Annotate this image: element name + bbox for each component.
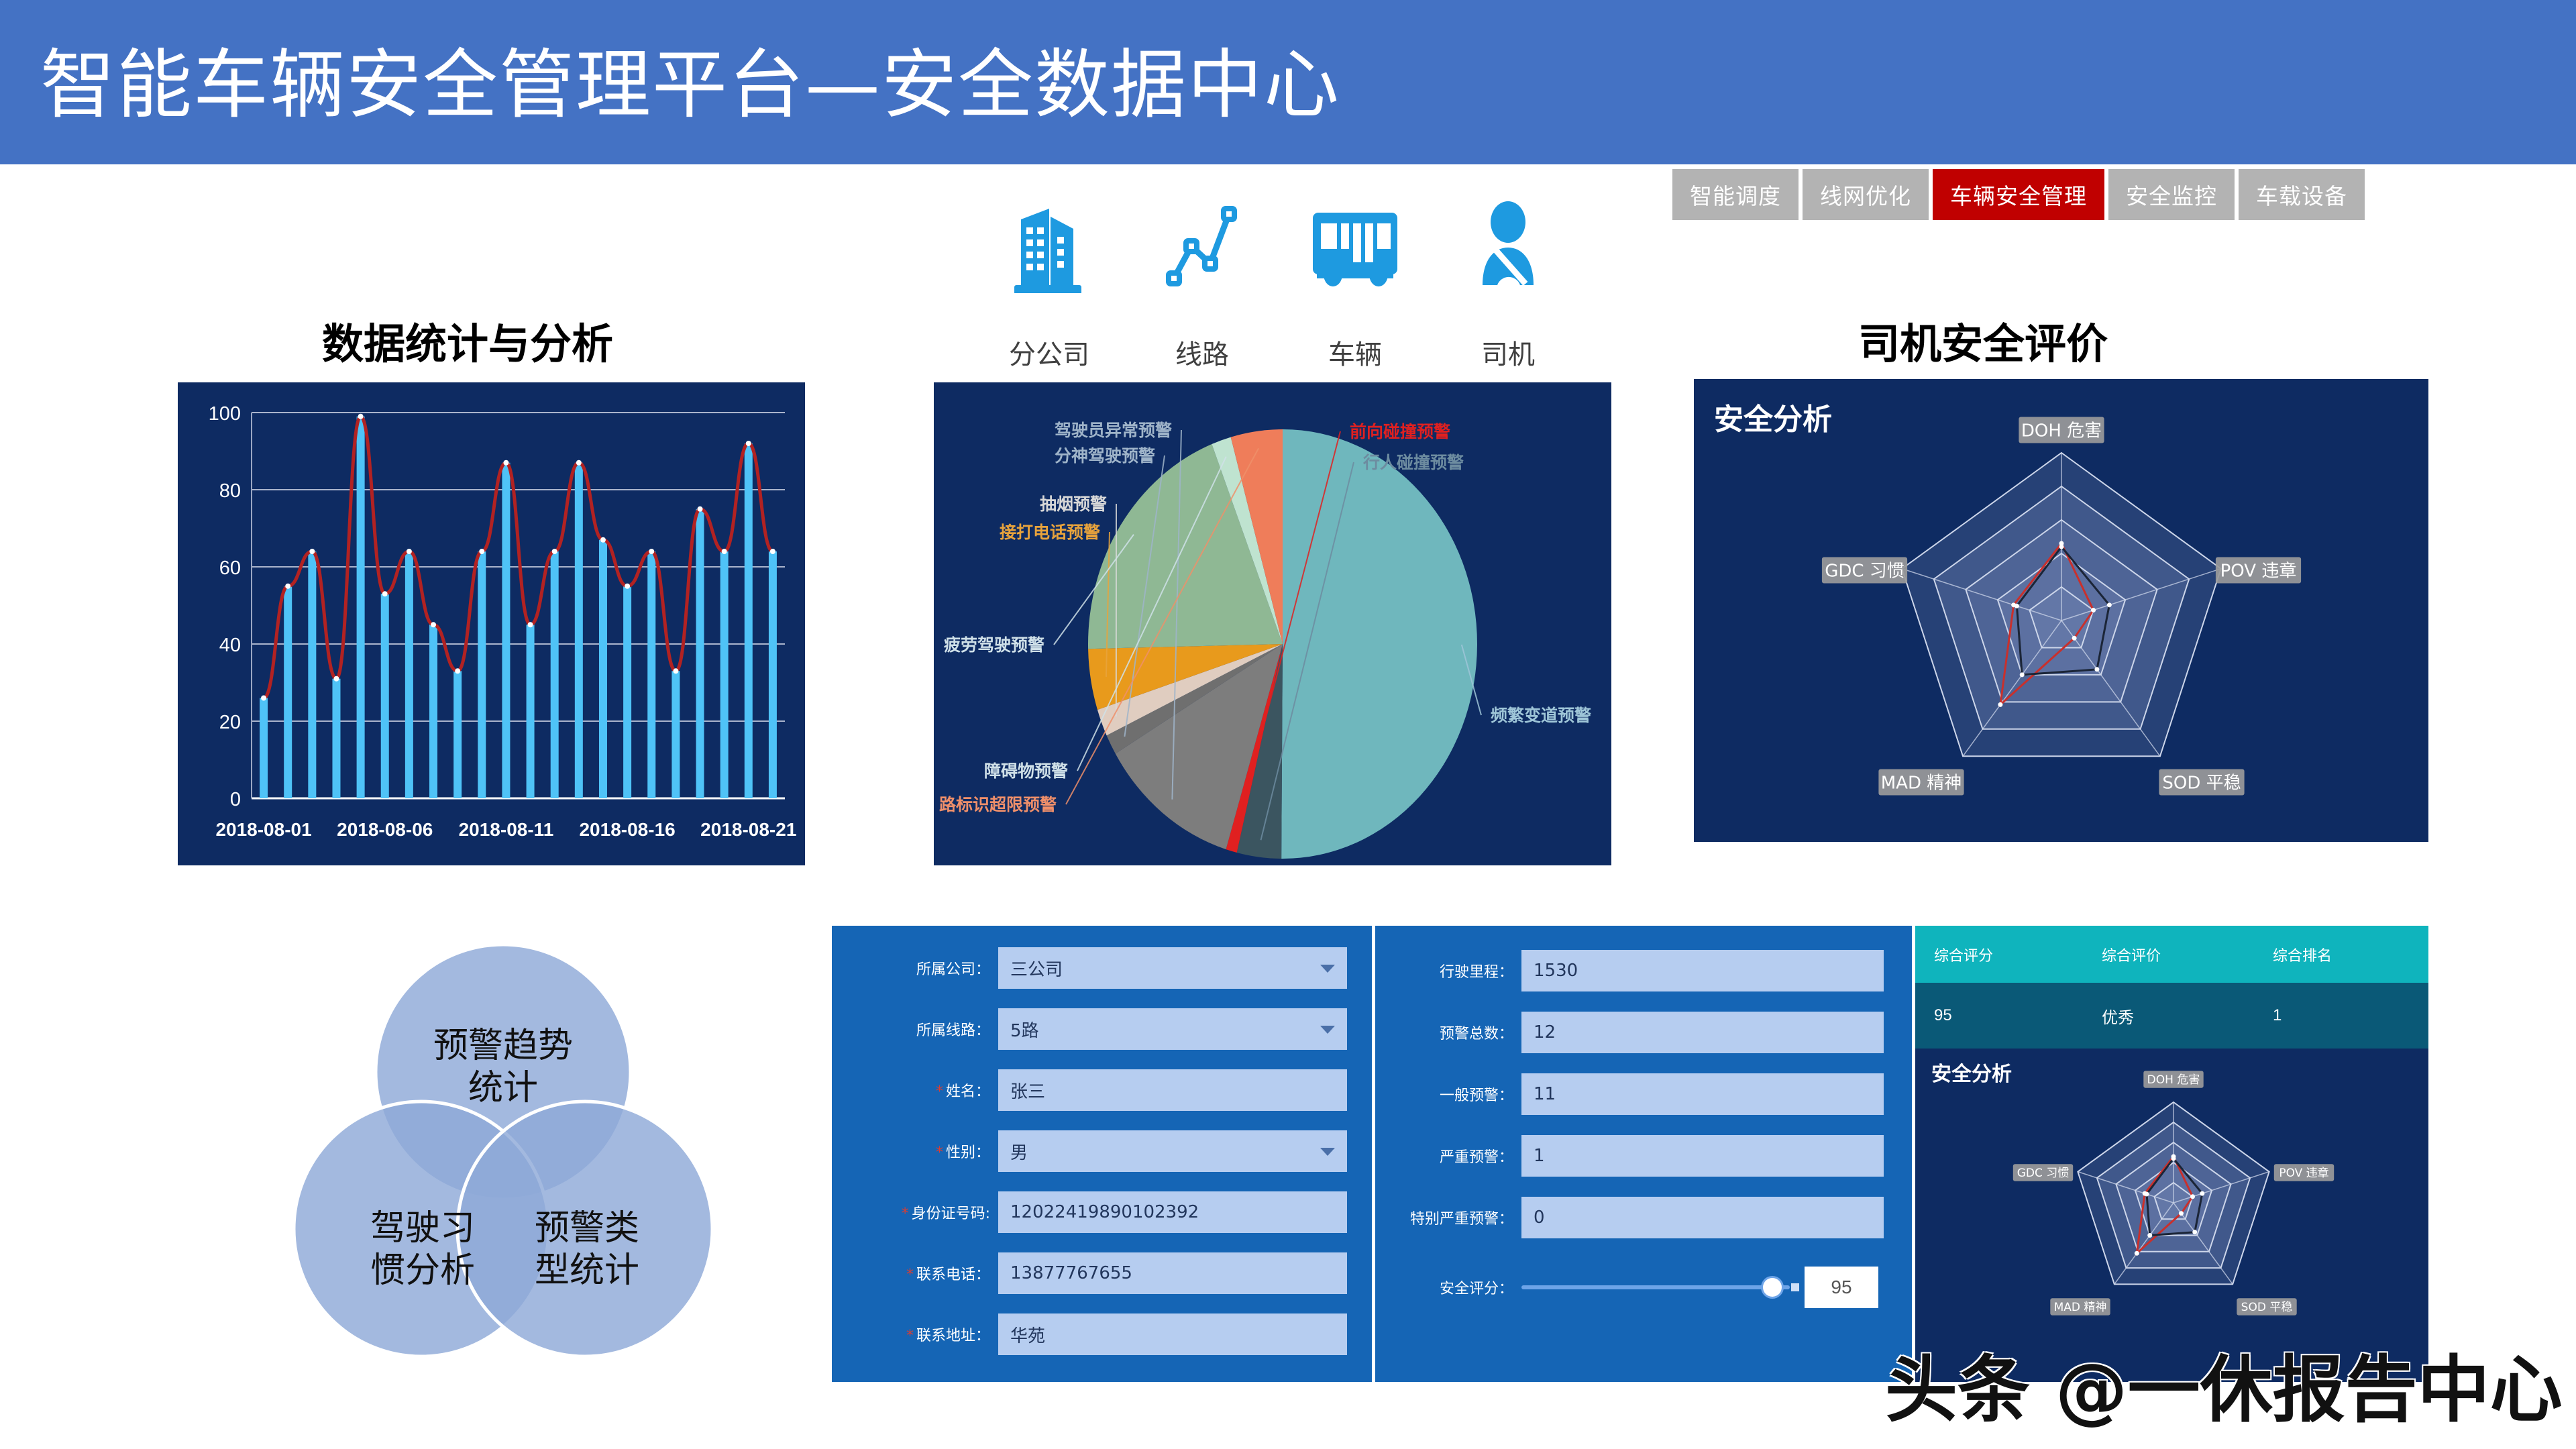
stat-input[interactable]: 11 xyxy=(1521,1073,1884,1115)
stat-input[interactable]: 1530 xyxy=(1521,950,1884,991)
col-header-score: 综合评分 xyxy=(1915,944,2083,965)
field-label: *性别： xyxy=(844,1140,998,1162)
required-marker: * xyxy=(906,1328,914,1344)
field-select[interactable]: 三公司 xyxy=(998,947,1347,989)
score-summary-panel: 综合评分 综合评价 综合排名 95 优秀 1 DOH 危害POV 违章SOD 平… xyxy=(1915,926,2428,1382)
field-label: *姓名： xyxy=(844,1079,998,1101)
warning-type-piechart: 频繁变道预警行人碰撞预警前向碰撞预警驾驶员异常预警分神驾驶预警抽烟预警接打电话预… xyxy=(934,382,1611,865)
field-value: 华苑 xyxy=(1010,1322,1045,1347)
stat-input[interactable]: 1 xyxy=(1521,1135,1884,1177)
field-input[interactable]: 12022419890102392 xyxy=(998,1191,1347,1233)
entity-driver[interactable]: 司机 xyxy=(1432,196,1585,372)
safety-score-label: 安全评分： xyxy=(1387,1277,1521,1298)
svg-text:MAD 精神: MAD 精神 xyxy=(2054,1301,2107,1314)
slide-root: 智能车辆安全管理平台—安全数据中心 智能调度线网优化车辆安全管理安全监控车载设备 xyxy=(0,0,2576,1449)
svg-text:40: 40 xyxy=(219,635,241,656)
stat-row-2: 一般预警：11 xyxy=(1387,1073,1900,1115)
left-section-heading: 数据统计与分析 xyxy=(322,310,613,370)
svg-text:行人碰撞预警: 行人碰撞预警 xyxy=(1362,453,1464,472)
stat-label: 行驶里程： xyxy=(1387,960,1521,981)
stat-value: 11 xyxy=(1534,1084,1556,1104)
svg-text:GDC 习惯: GDC 习惯 xyxy=(1825,561,1904,581)
form-row-5: *联系电话：13877767655 xyxy=(844,1252,1360,1294)
field-select[interactable]: 5路 xyxy=(998,1008,1347,1050)
field-value: 张三 xyxy=(1010,1078,1045,1103)
entity-route[interactable]: 线路 xyxy=(1126,196,1279,372)
driver-radar-panel: DOH 危害POV 违章SOD 平稳MAD 精神GDC 习惯 安全分析 xyxy=(1694,379,2428,842)
stat-input[interactable]: 12 xyxy=(1521,1012,1884,1053)
stat-label: 严重预警： xyxy=(1387,1145,1521,1167)
required-marker: * xyxy=(936,1144,943,1161)
stat-value: 1530 xyxy=(1534,961,1578,981)
svg-text:分神驾驶预警: 分神驾驶预警 xyxy=(1055,446,1155,466)
required-marker: * xyxy=(906,1267,914,1283)
bar-chart-panel: 0204060801002018-08-012018-08-062018-08-… xyxy=(178,382,805,865)
slider-track[interactable] xyxy=(1521,1285,1790,1289)
safety-score-slider[interactable] xyxy=(1521,1285,1790,1289)
analysis-venn-diagram: 预警趋势 统计 驾驶习 惯分析 预警类 型统计 xyxy=(268,926,738,1395)
right-section-heading: 司机安全评价 xyxy=(1858,310,2108,370)
radar-title: 安全分析 xyxy=(1714,395,1832,438)
svg-text:频繁变道预警: 频繁变道预警 xyxy=(1491,706,1591,725)
slider-knob[interactable] xyxy=(1763,1278,1782,1297)
form-row-2: *姓名：张三 xyxy=(844,1069,1360,1111)
stat-row-4: 特别严重预警：0 xyxy=(1387,1197,1900,1238)
svg-text:前向碰撞预警: 前向碰撞预警 xyxy=(1350,422,1450,441)
svg-text:2018-08-01: 2018-08-01 xyxy=(215,819,311,840)
table-row[interactable]: 95 优秀 1 xyxy=(1915,983,2428,1049)
form-row-4: *身份证号码:12022419890102392 xyxy=(844,1191,1360,1233)
field-value: 13877767655 xyxy=(1010,1263,1132,1283)
nav-tab-2[interactable]: 车辆安全管理 xyxy=(1933,169,2104,220)
stat-row-3: 严重预警：1 xyxy=(1387,1135,1900,1177)
stat-value: 12 xyxy=(1534,1022,1556,1042)
building-icon xyxy=(973,196,1126,297)
line-chart-icon xyxy=(1126,196,1279,297)
svg-text:60: 60 xyxy=(219,557,241,579)
svg-text:100: 100 xyxy=(209,403,241,425)
svg-text:POV 违章: POV 违章 xyxy=(2279,1167,2328,1180)
field-input[interactable]: 华苑 xyxy=(998,1313,1347,1355)
field-label: *身份证号码: xyxy=(844,1201,998,1223)
svg-text:20: 20 xyxy=(219,712,241,733)
chevron-down-icon xyxy=(1320,1026,1335,1034)
svg-text:2018-08-21: 2018-08-21 xyxy=(700,819,796,840)
safety-radar-chart: DOH 危害POV 违章SOD 平稳MAD 精神GDC 习惯 xyxy=(1694,379,2428,842)
field-label: 所属线路： xyxy=(844,1018,998,1040)
form-row-0: 所属公司：三公司 xyxy=(844,947,1360,989)
svg-text:SOD 平稳: SOD 平稳 xyxy=(2241,1301,2293,1314)
slider-end-cap xyxy=(1791,1283,1799,1291)
field-label: 所属公司： xyxy=(844,957,998,979)
entity-driver-label: 司机 xyxy=(1432,333,1585,372)
driver-person-icon xyxy=(1432,196,1585,297)
venn-label-top: 预警趋势 统计 xyxy=(382,1025,624,1110)
nav-tab-4[interactable]: 车载设备 xyxy=(2239,169,2365,220)
entity-vehicle-label: 车辆 xyxy=(1279,333,1432,372)
required-marker: * xyxy=(936,1083,943,1100)
page-title: 智能车辆安全管理平台—安全数据中心 xyxy=(40,24,1340,133)
stat-row-0: 行驶里程：1530 xyxy=(1387,950,1900,991)
field-value: 12022419890102392 xyxy=(1010,1202,1199,1222)
svg-text:路标识超限预警: 路标识超限预警 xyxy=(939,795,1057,814)
col-header-rating: 综合评价 xyxy=(2083,944,2254,965)
stat-value: 0 xyxy=(1534,1207,1545,1228)
svg-text:POV 违章: POV 违章 xyxy=(2220,561,2297,581)
stat-label: 一般预警： xyxy=(1387,1083,1521,1105)
stat-row-1: 预警总数：12 xyxy=(1387,1012,1900,1053)
form-row-3: *性别：男 xyxy=(844,1130,1360,1172)
svg-text:2018-08-11: 2018-08-11 xyxy=(459,819,554,840)
svg-text:DOH 危害: DOH 危害 xyxy=(2021,421,2102,441)
cell-rating: 优秀 xyxy=(2083,1004,2254,1028)
nav-tab-1[interactable]: 线网优化 xyxy=(1803,169,1929,220)
svg-text:GDC 习惯: GDC 习惯 xyxy=(2017,1167,2070,1180)
warning-trend-barchart: 0204060801002018-08-012018-08-062018-08-… xyxy=(178,382,805,865)
svg-text:障碍物预警: 障碍物预警 xyxy=(984,761,1068,781)
form-row-1: 所属线路：5路 xyxy=(844,1008,1360,1050)
svg-text:0: 0 xyxy=(230,789,241,810)
chevron-down-icon xyxy=(1320,1148,1335,1156)
field-input[interactable]: 张三 xyxy=(998,1069,1347,1111)
form-row-6: *联系地址：华苑 xyxy=(844,1313,1360,1355)
nav-tab-0[interactable]: 智能调度 xyxy=(1672,169,1799,220)
pie-chart-panel: 频繁变道预警行人碰撞预警前向碰撞预警驾驶员异常预警分神驾驶预警抽烟预警接打电话预… xyxy=(934,382,1611,865)
svg-text:接打电话预警: 接打电话预警 xyxy=(1000,523,1100,542)
field-label: *联系电话： xyxy=(844,1263,998,1284)
field-value: 男 xyxy=(1010,1139,1028,1164)
field-value: 5路 xyxy=(1010,1017,1039,1042)
driving-stats-form: 行驶里程：1530预警总数：12一般预警：11严重预警：1特别严重预警：0安全评… xyxy=(1375,926,1912,1382)
svg-text:疲劳驾驶预警: 疲劳驾驶预警 xyxy=(944,635,1044,655)
svg-text:MAD 精神: MAD 精神 xyxy=(1881,773,1962,793)
safety-score-value[interactable]: 95 xyxy=(1805,1267,1878,1308)
bus-icon xyxy=(1279,196,1432,297)
svg-text:80: 80 xyxy=(219,480,241,502)
svg-text:驾驶员异常预警: 驾驶员异常预警 xyxy=(1055,421,1172,440)
watermark: 头条 @一休报告中心 xyxy=(1885,1332,2563,1436)
cell-score: 95 xyxy=(1915,1006,2083,1025)
page-header: 智能车辆安全管理平台—安全数据中心 xyxy=(0,0,2576,164)
field-label: *联系地址： xyxy=(844,1324,998,1345)
nav-tab-3[interactable]: 安全监控 xyxy=(2108,169,2235,220)
radar-small-title: 安全分析 xyxy=(1931,1057,2012,1087)
venn-label-right: 预警类 型统计 xyxy=(473,1207,701,1293)
svg-text:抽烟预警: 抽烟预警 xyxy=(1040,494,1107,514)
stat-value: 1 xyxy=(1534,1146,1545,1166)
field-value: 三公司 xyxy=(1010,956,1063,981)
entity-icon-strip: 分公司 线路 xyxy=(973,196,1585,372)
svg-text:2018-08-16: 2018-08-16 xyxy=(579,819,675,840)
stat-label: 预警总数： xyxy=(1387,1022,1521,1043)
col-header-rank: 综合排名 xyxy=(2254,944,2428,965)
top-nav-tabs: 智能调度线网优化车辆安全管理安全监控车载设备 xyxy=(1672,169,2365,220)
svg-text:2018-08-06: 2018-08-06 xyxy=(337,819,433,840)
cell-rank: 1 xyxy=(2254,1006,2428,1025)
driver-info-form: 所属公司：三公司所属线路：5路*姓名：张三*性别：男*身份证号码:1202241… xyxy=(832,926,1372,1382)
svg-text:SOD 平稳: SOD 平稳 xyxy=(2162,773,2241,793)
score-table-header: 综合评分 综合评价 综合排名 xyxy=(1915,926,2428,983)
entity-branch-label: 分公司 xyxy=(973,333,1126,372)
safety-score-row: 安全评分：95 xyxy=(1387,1267,1900,1308)
entity-route-label: 线路 xyxy=(1126,333,1279,372)
field-input[interactable]: 13877767655 xyxy=(998,1252,1347,1294)
entity-branch[interactable]: 分公司 xyxy=(973,196,1126,372)
svg-text:DOH 危害: DOH 危害 xyxy=(2147,1073,2200,1087)
entity-vehicle[interactable]: 车辆 xyxy=(1279,196,1432,372)
chevron-down-icon xyxy=(1320,965,1335,973)
field-select[interactable]: 男 xyxy=(998,1130,1347,1172)
stat-input[interactable]: 0 xyxy=(1521,1197,1884,1238)
required-marker: * xyxy=(902,1205,909,1222)
stat-label: 特别严重预警： xyxy=(1387,1207,1521,1228)
